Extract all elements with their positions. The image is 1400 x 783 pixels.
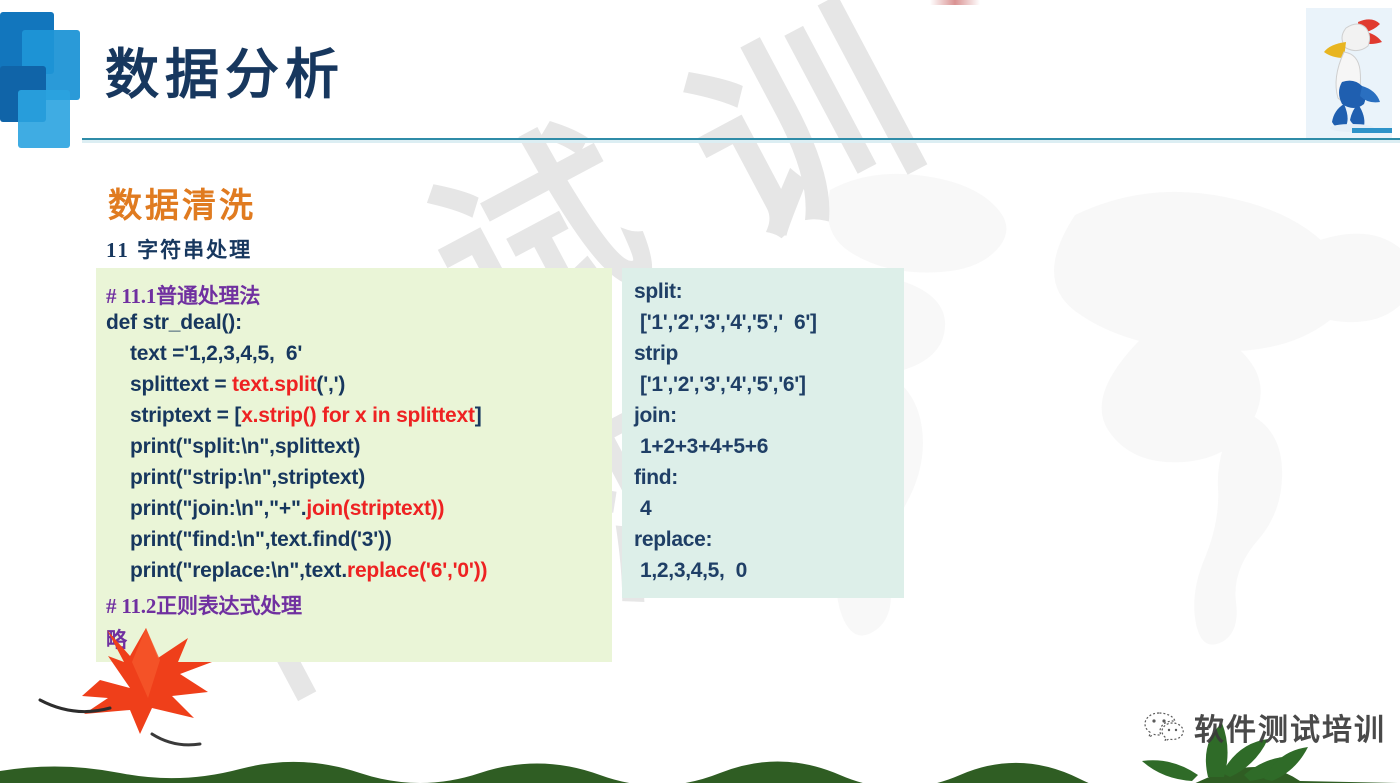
- output-label: join:: [634, 404, 677, 428]
- code-line: print("split:\n",splittext): [130, 435, 360, 459]
- output-value: ['1','2','3','4','5',' 6']: [640, 311, 817, 335]
- output-value: 4: [640, 497, 651, 521]
- output-label: find:: [634, 466, 678, 490]
- output-panel: split:['1','2','3','4','5',' 6']strip['1…: [622, 268, 904, 598]
- code-comment-line: 略: [106, 624, 127, 654]
- output-label: split:: [634, 280, 682, 304]
- code-line: def str_deal():: [106, 311, 242, 335]
- code-line: print("replace:\n",text.replace('6','0')…: [130, 559, 487, 583]
- slide-canvas: 训 试 测 件 数据分析 数据清洗 11 字符串处理 # 11.1普通处: [0, 0, 1400, 783]
- footer-brand-text: 软件测试培训: [1194, 705, 1386, 749]
- output-value: ['1','2','3','4','5','6']: [640, 373, 806, 397]
- output-value: 1,2,3,4,5, 0: [640, 559, 747, 583]
- code-line: print("strip:\n",striptext): [130, 466, 365, 490]
- slide-header: 数据分析: [0, 0, 1400, 148]
- mascot-accent-bar: [1352, 128, 1392, 133]
- code-line: striptext = [x.strip() for x in splittex…: [130, 404, 482, 428]
- code-line: text ='1,2,3,4,5, 6': [130, 342, 302, 366]
- section-title: 数据清洗: [108, 178, 256, 227]
- footer-brand: 软件测试培训: [1144, 705, 1386, 749]
- code-comment-line: # 11.2正则表达式处理: [106, 590, 302, 620]
- output-label: strip: [634, 342, 678, 366]
- output-label: replace:: [634, 528, 712, 552]
- logo-squares-icon: [0, 12, 82, 146]
- page-title: 数据分析: [105, 48, 345, 102]
- sub-title: 11 字符串处理: [106, 234, 252, 264]
- output-value: 1+2+3+4+5+6: [640, 435, 768, 459]
- code-line: print("join:\n","+".join(striptext)): [130, 497, 444, 521]
- code-line: splittext = text.split(','): [130, 373, 345, 397]
- wechat-icon: [1144, 710, 1184, 744]
- code-line: print("find:\n",text.find('3')): [130, 528, 392, 552]
- code-comment-line: # 11.1普通处理法: [106, 280, 260, 310]
- header-divider: [82, 138, 1400, 140]
- code-panel: # 11.1普通处理法def str_deal():text ='1,2,3,4…: [96, 268, 612, 662]
- woodpecker-mascot-icon: [1306, 8, 1392, 138]
